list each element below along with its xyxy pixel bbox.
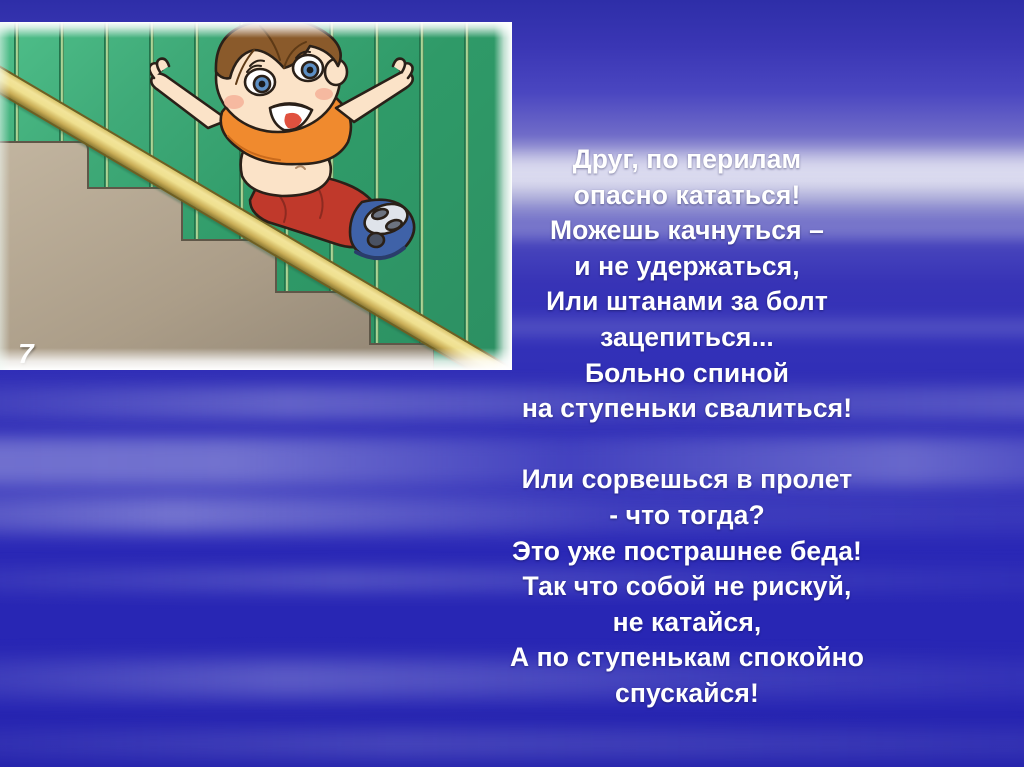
poem-line: опасно кататься! [452, 178, 922, 214]
poem-line: Это уже пострашнее беда! [452, 534, 922, 570]
poem-line: - что тогда? [452, 498, 922, 534]
poem-line: зацепиться... [452, 320, 922, 356]
poem-stanza-2: Или сорвешься в пролет - что тогда? Это … [452, 462, 922, 711]
illustration-image: 7 [0, 22, 512, 370]
image-edge-fade-top [0, 22, 512, 38]
poem-line: и не удержаться, [452, 249, 922, 285]
poem-line: Можешь качнуться – [452, 213, 922, 249]
poem-line: не катайся, [452, 605, 922, 641]
slide-canvas: 7 Друг, по перилам опасно кататься! Може… [0, 0, 1024, 767]
poem-line: Или штанами за болт [452, 284, 922, 320]
poem-line: Больно спиной [452, 356, 922, 392]
poem-line: спускайся! [452, 676, 922, 712]
boy-character [150, 22, 420, 306]
stanza-gap [452, 427, 922, 463]
image-edge-fade-left [0, 22, 10, 370]
poem-line: Или сорвешься в пролет [452, 462, 922, 498]
poem-text-block: Друг, по перилам опасно кататься! Можешь… [452, 142, 922, 712]
poem-line: на ступеньки свалиться! [452, 391, 922, 427]
poem-line: Друг, по перилам [452, 142, 922, 178]
poem-line: Так что собой не рискуй, [452, 569, 922, 605]
poem-line: А по ступенькам спокойно [452, 640, 922, 676]
poem-stanza-1: Друг, по перилам опасно кататься! Можешь… [452, 142, 922, 427]
image-edge-fade-bottom [0, 348, 512, 370]
